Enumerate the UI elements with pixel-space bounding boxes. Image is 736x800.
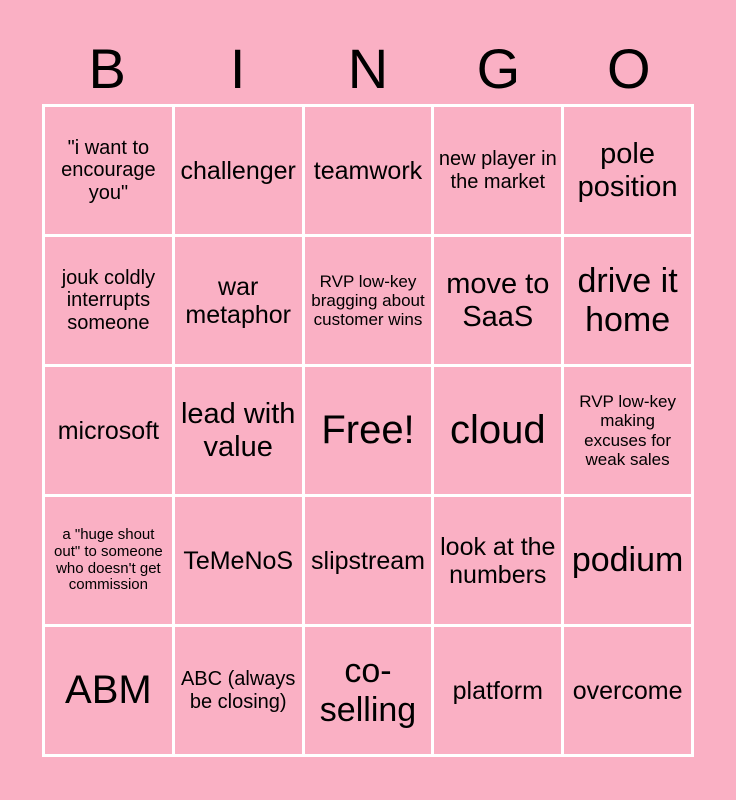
- bingo-cell-label: move to SaaS: [437, 268, 558, 333]
- bingo-cell-label: overcome: [567, 677, 688, 705]
- bingo-cell[interactable]: cloud: [434, 367, 561, 494]
- bingo-cell-label: challenger: [178, 157, 299, 185]
- bingo-cell-free[interactable]: Free!: [305, 367, 432, 494]
- bingo-cell-label: "i want to encourage you": [48, 137, 169, 204]
- bingo-letter-b: B: [42, 34, 172, 104]
- bingo-cell[interactable]: look at the numbers: [434, 497, 561, 624]
- bingo-header: B I N G O: [42, 34, 694, 104]
- bingo-cell-label: ABC (always be closing): [178, 668, 299, 713]
- bingo-letter-n: N: [303, 34, 433, 104]
- bingo-cell[interactable]: overcome: [564, 627, 691, 754]
- bingo-grid: "i want to encourage you" challenger tea…: [42, 104, 694, 757]
- bingo-cell[interactable]: war metaphor: [175, 237, 302, 364]
- bingo-cell-label: look at the numbers: [437, 533, 558, 589]
- bingo-cell-label: teamwork: [308, 157, 429, 185]
- bingo-cell-label: a "huge shout out" to someone who doesn'…: [48, 527, 169, 594]
- bingo-cell[interactable]: move to SaaS: [434, 237, 561, 364]
- bingo-cell-label: ABM: [48, 668, 169, 713]
- bingo-card: B I N G O "i want to encourage you" chal…: [0, 0, 736, 800]
- bingo-cell-label: jouk coldly interrupts someone: [48, 267, 169, 334]
- bingo-cell[interactable]: platform: [434, 627, 561, 754]
- bingo-cell[interactable]: teamwork: [305, 107, 432, 234]
- bingo-cell-label: cloud: [437, 408, 558, 453]
- bingo-cell[interactable]: "i want to encourage you": [45, 107, 172, 234]
- bingo-cell[interactable]: co-selling: [305, 627, 432, 754]
- bingo-cell-label: lead with value: [178, 398, 299, 463]
- bingo-cell[interactable]: TeMeNoS: [175, 497, 302, 624]
- bingo-cell[interactable]: pole position: [564, 107, 691, 234]
- bingo-cell[interactable]: ABC (always be closing): [175, 627, 302, 754]
- bingo-letter-g: G: [433, 34, 563, 104]
- bingo-cell-label: drive it home: [567, 262, 688, 338]
- bingo-cell-label: Free!: [308, 408, 429, 453]
- bingo-cell[interactable]: drive it home: [564, 237, 691, 364]
- bingo-cell-label: slipstream: [308, 547, 429, 575]
- bingo-letter-i: I: [172, 34, 302, 104]
- bingo-cell[interactable]: microsoft: [45, 367, 172, 494]
- bingo-cell-label: podium: [567, 541, 688, 579]
- bingo-cell[interactable]: slipstream: [305, 497, 432, 624]
- bingo-cell[interactable]: new player in the market: [434, 107, 561, 234]
- bingo-cell-label: platform: [437, 677, 558, 705]
- bingo-cell-label: war metaphor: [178, 273, 299, 329]
- bingo-cell-label: RVP low-key making excuses for weak sale…: [567, 392, 688, 468]
- bingo-cell[interactable]: a "huge shout out" to someone who doesn'…: [45, 497, 172, 624]
- bingo-cell-label: new player in the market: [437, 148, 558, 193]
- bingo-cell-label: microsoft: [48, 417, 169, 445]
- bingo-cell-label: TeMeNoS: [178, 547, 299, 575]
- bingo-cell[interactable]: ABM: [45, 627, 172, 754]
- bingo-cell-label: pole position: [567, 138, 688, 203]
- bingo-cell[interactable]: jouk coldly interrupts someone: [45, 237, 172, 364]
- bingo-cell[interactable]: RVP low-key bragging about customer wins: [305, 237, 432, 364]
- bingo-cell-label: RVP low-key bragging about customer wins: [308, 272, 429, 329]
- bingo-cell[interactable]: RVP low-key making excuses for weak sale…: [564, 367, 691, 494]
- bingo-cell[interactable]: podium: [564, 497, 691, 624]
- bingo-cell[interactable]: challenger: [175, 107, 302, 234]
- bingo-cell[interactable]: lead with value: [175, 367, 302, 494]
- bingo-cell-label: co-selling: [308, 652, 429, 728]
- bingo-letter-o: O: [564, 34, 694, 104]
